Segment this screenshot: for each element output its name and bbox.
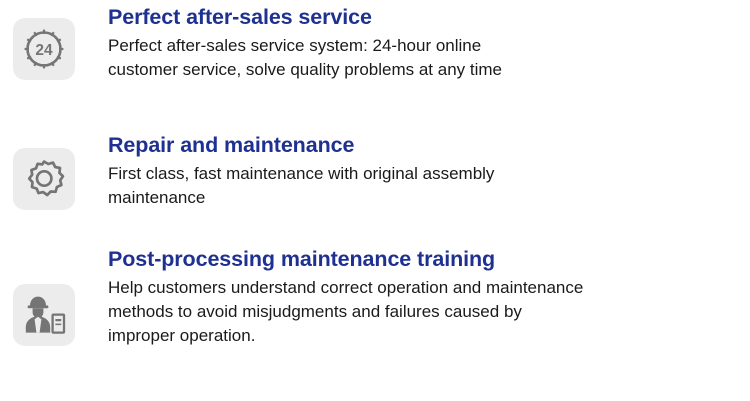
clock-icon-label: 24 [35,42,53,59]
feature-title: Perfect after-sales service [108,4,748,31]
gear-icon [22,157,66,201]
feature-list: 24 Perfect after-sales service Perfect a… [0,0,750,401]
icon-tile: 24 [13,18,75,80]
feature-description: First class, fast maintenance with origi… [108,162,748,210]
feature-item-repair-maintenance: Repair and maintenance First class, fast… [0,132,748,210]
icon-tile [13,148,75,210]
feature-text: Post-processing maintenance training Hel… [108,246,748,348]
clock-24-hour-icon: 24 [21,26,67,72]
feature-title: Repair and maintenance [108,132,748,159]
feature-item-after-sales-service: 24 Perfect after-sales service Perfect a… [0,4,748,82]
feature-description-line: Perfect after-sales service system: 24-h… [108,34,748,58]
feature-description-line: improper operation. [108,324,748,348]
feature-description-line: Help customers understand correct operat… [108,276,748,300]
feature-description-line: maintenance [108,186,748,210]
feature-description-line: methods to avoid misjudgments and failur… [108,300,748,324]
feature-description: Perfect after-sales service system: 24-h… [108,34,748,82]
feature-item-maintenance-training: Post-processing maintenance training Hel… [0,246,748,348]
feature-description: Help customers understand correct operat… [108,276,748,348]
feature-text: Perfect after-sales service Perfect afte… [108,4,748,82]
feature-text: Repair and maintenance First class, fast… [108,132,748,210]
icon-tile [13,284,75,346]
feature-title: Post-processing maintenance training [108,246,748,273]
worker-training-icon [21,294,67,336]
feature-description-line: customer service, solve quality problems… [108,58,748,82]
feature-description-line: First class, fast maintenance with origi… [108,162,748,186]
